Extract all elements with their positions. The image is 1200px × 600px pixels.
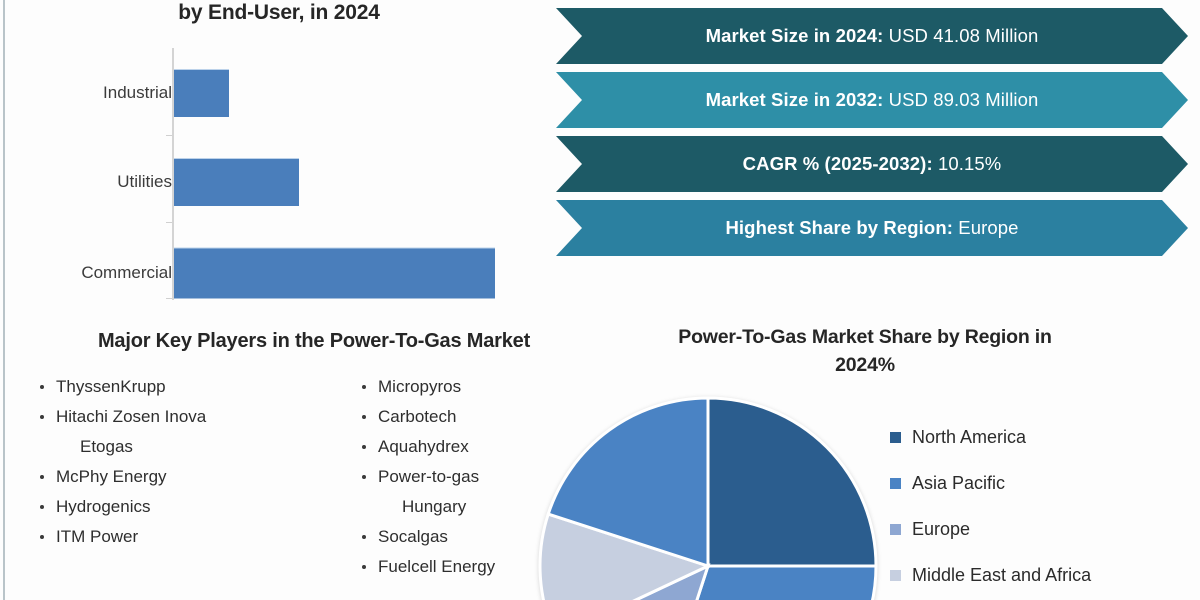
legend-item[interactable]: Asia Pacific	[890, 460, 1190, 506]
pie-chart-legend: North AmericaAsia PacificEuropeMiddle Ea…	[890, 414, 1190, 598]
pie-chart-panel: Power-To-Gas Market Share by Region in 2…	[600, 318, 1200, 600]
key-player-item: Hydrogenics	[40, 492, 314, 522]
legend-swatch-icon	[890, 570, 901, 581]
key-player-label: McPhy Energy	[56, 467, 167, 486]
bullet-icon	[40, 415, 44, 419]
kpi-label: Highest Share by Region:	[725, 217, 953, 238]
key-player-label: Hitachi Zosen Inova	[56, 407, 206, 426]
kpi-value: 10.15%	[938, 153, 1001, 174]
bar-industrial[interactable]	[174, 69, 229, 117]
kpi-value: USD 89.03 Million	[889, 89, 1039, 110]
pie-chart-title-line1: Power-To-Gas Market Share by Region in	[610, 323, 1120, 351]
bar-label-commercial: Commercial	[81, 263, 172, 283]
axis-tick	[166, 222, 172, 223]
bullet-icon	[362, 565, 366, 569]
key-player-label: Micropyros	[378, 377, 461, 396]
bullet-icon	[40, 505, 44, 509]
legend-swatch-icon	[890, 524, 901, 535]
bar-chart-title-line2: by End-User, in 2024	[14, 0, 544, 26]
bullet-icon	[40, 475, 44, 479]
left-border-rule	[3, 0, 5, 600]
kpi-banner-text: Market Size in 2024: USD 41.08 Million	[706, 25, 1039, 47]
key-player-label: ITM Power	[56, 527, 138, 546]
bar-label-industrial: Industrial	[103, 83, 172, 103]
kpi-value: USD 41.08 Million	[889, 25, 1039, 46]
kpi-label: Market Size in 2024:	[706, 25, 884, 46]
bullet-icon	[362, 415, 366, 419]
key-player-item: Etogas	[40, 432, 314, 462]
legend-label: Middle East and Africa	[912, 565, 1091, 586]
pie-chart-graphic[interactable]	[538, 396, 878, 600]
key-players-title: Major Key Players in the Power-To-Gas Ma…	[14, 330, 614, 353]
bullet-icon	[362, 535, 366, 539]
key-player-item: ThyssenKrupp	[40, 372, 314, 402]
bar-row-utilities[interactable]: Utilities	[14, 147, 544, 217]
key-player-label: Hydrogenics	[56, 497, 151, 516]
bar-label-utilities: Utilities	[117, 172, 172, 192]
key-player-label: Aquahydrex	[378, 437, 469, 456]
bar-chart-plot-area: Industrial Utilities Commercial	[14, 40, 544, 305]
kpi-banner-list: Market Size in 2024: USD 41.08 Million M…	[556, 8, 1190, 298]
legend-swatch-icon	[890, 432, 901, 443]
kpi-banner-text: Market Size in 2032: USD 89.03 Million	[706, 89, 1039, 111]
legend-item[interactable]: North America	[890, 414, 1190, 460]
legend-label: North America	[912, 427, 1026, 448]
pie-svg[interactable]	[538, 396, 878, 600]
kpi-value: Europe	[958, 217, 1018, 238]
bar-row-commercial[interactable]: Commercial	[14, 238, 544, 308]
key-player-item: ITM Power	[40, 522, 314, 552]
bar-utilities[interactable]	[174, 158, 299, 206]
bar-row-industrial[interactable]: Industrial	[14, 58, 544, 128]
key-players-column-left: ThyssenKruppHitachi Zosen InovaEtogasMcP…	[14, 372, 314, 582]
key-player-label: Etogas	[80, 437, 133, 456]
bar-chart-panel: Power-To-Gas Market Share by End-User, i…	[14, 0, 544, 318]
infographic-canvas: Power-To-Gas Market Share by End-User, i…	[0, 0, 1200, 600]
legend-label: Asia Pacific	[912, 473, 1005, 494]
pie-chart-title-line2: 2024%	[610, 351, 1120, 379]
legend-label: Europe	[912, 519, 970, 540]
pie-chart-title: Power-To-Gas Market Share by Region in 2…	[610, 323, 1120, 379]
key-player-item: Hitachi Zosen Inova	[40, 402, 314, 432]
bullet-icon	[362, 385, 366, 389]
kpi-banner-market-size-2024[interactable]: Market Size in 2024: USD 41.08 Million	[556, 8, 1188, 64]
legend-item[interactable]: Europe	[890, 506, 1190, 552]
kpi-label: Market Size in 2032:	[706, 89, 884, 110]
bullet-icon	[40, 535, 44, 539]
key-players-panel: Major Key Players in the Power-To-Gas Ma…	[14, 322, 614, 600]
kpi-label: CAGR % (2025-2032):	[743, 153, 933, 174]
bar-commercial[interactable]	[174, 248, 495, 299]
axis-tick	[166, 135, 172, 136]
legend-item[interactable]: Middle East and Africa	[890, 552, 1190, 598]
key-player-label: Socalgas	[378, 527, 448, 546]
key-player-label: Power-to-gas	[378, 467, 479, 486]
kpi-banner-highest-share-region[interactable]: Highest Share by Region: Europe	[556, 200, 1188, 256]
kpi-banner-text: CAGR % (2025-2032): 10.15%	[743, 153, 1002, 175]
key-players-columns: ThyssenKruppHitachi Zosen InovaEtogasMcP…	[14, 372, 614, 582]
bullet-icon	[362, 475, 366, 479]
kpi-banner-text: Highest Share by Region: Europe	[725, 217, 1018, 239]
key-player-item: McPhy Energy	[40, 462, 314, 492]
key-player-label: Fuelcell Energy	[378, 557, 495, 576]
bullet-icon	[40, 385, 44, 389]
key-player-label: Carbotech	[378, 407, 456, 426]
bar-chart-title: Power-To-Gas Market Share by End-User, i…	[14, 0, 544, 26]
key-player-label: Hungary	[402, 497, 466, 516]
kpi-banner-market-size-2032[interactable]: Market Size in 2032: USD 89.03 Million	[556, 72, 1188, 128]
pie-slice[interactable]	[708, 398, 876, 566]
key-player-label: ThyssenKrupp	[56, 377, 166, 396]
legend-swatch-icon	[890, 478, 901, 489]
kpi-banner-cagr[interactable]: CAGR % (2025-2032): 10.15%	[556, 136, 1188, 192]
bullet-icon	[362, 445, 366, 449]
